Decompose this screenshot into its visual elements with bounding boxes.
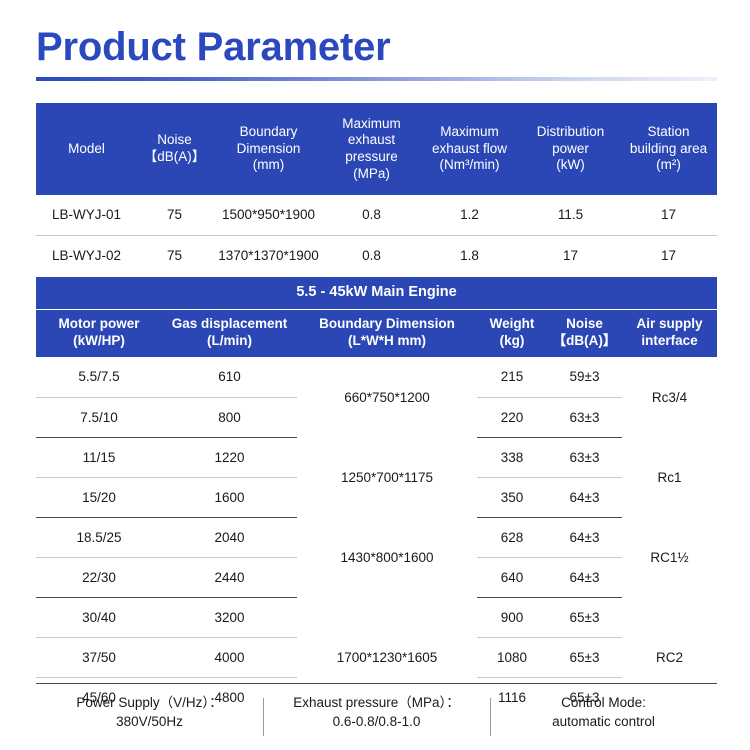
- cell-gas-displacement: 2440: [162, 557, 297, 597]
- cell-noise: 59±3: [547, 357, 622, 397]
- table-row: 18.5/25 2040 1430*800*1600 628 64±3 RC1½: [36, 517, 717, 557]
- cell-noise: 65±3: [547, 597, 622, 637]
- th-area-l3: (m²): [656, 157, 681, 172]
- cell-noise: 63±3: [547, 397, 622, 437]
- cell-area: 17: [620, 195, 717, 235]
- th-pressure-l1: Maximum: [342, 116, 401, 131]
- cell-flow: 1.8: [418, 235, 521, 275]
- cell-pressure: 0.8: [325, 195, 418, 235]
- table-row: 11/15 1220 1250*700*1175 338 63±3 Rc1: [36, 437, 717, 477]
- th-weight-l1: Weight: [490, 316, 535, 331]
- th-airsupply-l1: Air supply: [637, 316, 703, 331]
- cell-boundary-dimension: 1250*700*1175: [297, 437, 477, 517]
- th-dpower-l1: Distribution: [537, 124, 605, 139]
- th-noise2-l1: Noise: [566, 316, 603, 331]
- cell-model: LB-WYJ-01: [36, 195, 137, 235]
- cell-air-supply-interface: Rc1: [622, 437, 717, 517]
- th-boundary-l2: Dimension: [237, 141, 301, 156]
- th-area-l2: building area: [630, 141, 707, 156]
- table-row: LB-WYJ-01 75 1500*950*1900 0.8 1.2 11.5 …: [36, 195, 717, 235]
- th-gasdisp-l1: Gas displacement: [172, 316, 288, 331]
- cell-pressure: 0.8: [325, 235, 418, 275]
- th-boundary-dimension-2: Boundary Dimension (L*W*H mm): [297, 309, 477, 357]
- table1-header-row: Model Noise 【dB(A)】 Boundary Dimension (…: [36, 103, 717, 195]
- cell-motor-power: 30/40: [36, 597, 162, 637]
- cell-boundary-dimension: 660*750*1200: [297, 357, 477, 437]
- th-model: Model: [36, 103, 137, 195]
- cell-noise: 63±3: [547, 437, 622, 477]
- th-air-supply-interface: Air supply interface: [622, 309, 717, 357]
- th-bound2-l2: (L*W*H mm): [348, 333, 426, 348]
- th-airsupply-l2: interface: [641, 333, 697, 348]
- th-weight-l2: (kg): [500, 333, 525, 348]
- cell-power: 11.5: [521, 195, 620, 235]
- cell-noise: 64±3: [547, 517, 622, 557]
- th-distribution-power: Distribution power (kW): [521, 103, 620, 195]
- th-flow-l1: Maximum: [440, 124, 499, 139]
- th-motor-power: Motor power (kW/HP): [36, 309, 162, 357]
- parameter-tables: Model Noise 【dB(A)】 Boundary Dimension (…: [36, 103, 717, 717]
- footer-control-mode: Control Mode: automatic control: [490, 694, 717, 731]
- cell-weight: 220: [477, 397, 547, 437]
- cell-motor-power: 5.5/7.5: [36, 357, 162, 397]
- cell-gas-displacement: 610: [162, 357, 297, 397]
- th-motorpower-l2: (kW/HP): [73, 333, 125, 348]
- cell-motor-power: 7.5/10: [36, 397, 162, 437]
- th-boundary-dimension: Boundary Dimension (mm): [212, 103, 325, 195]
- cell-noise: 64±3: [547, 557, 622, 597]
- th-pressure-l3: pressure: [345, 149, 398, 164]
- cell-power: 17: [521, 235, 620, 275]
- th-motorpower-l1: Motor power: [59, 316, 140, 331]
- cell-motor-power: 18.5/25: [36, 517, 162, 557]
- th-boundary-l1: Boundary: [240, 124, 298, 139]
- th-noise-l2: 【dB(A)】: [144, 149, 206, 164]
- footer-exhaust-pressure-label: Exhaust pressure（MPa）：: [267, 694, 486, 713]
- cell-flow: 1.2: [418, 195, 521, 235]
- th-pressure-l2: exhaust: [348, 132, 395, 147]
- cell-gas-displacement: 2040: [162, 517, 297, 557]
- cell-weight: 1080: [477, 637, 547, 677]
- th-dpower-l2: power: [552, 141, 589, 156]
- cell-gas-displacement: 4000: [162, 637, 297, 677]
- cell-weight: 640: [477, 557, 547, 597]
- cell-dimension: 1500*950*1900: [212, 195, 325, 235]
- cell-motor-power: 37/50: [36, 637, 162, 677]
- th-pressure-l4: (MPa): [353, 166, 390, 181]
- page-title: Product Parameter: [36, 26, 717, 68]
- table2-header-row: Motor power (kW/HP) Gas displacement (L/…: [36, 309, 717, 357]
- th-noise-2: Noise 【dB(A)】: [547, 309, 622, 357]
- cell-motor-power: 11/15: [36, 437, 162, 477]
- cell-air-supply-interface: Rc3/4: [622, 357, 717, 437]
- th-weight: Weight (kg): [477, 309, 547, 357]
- title-underline-rule: [36, 77, 717, 81]
- cell-boundary-dimension: 1430*800*1600: [297, 517, 477, 597]
- th-flow-l2: exhaust flow: [432, 141, 507, 156]
- cell-weight: 338: [477, 437, 547, 477]
- th-station-building-area: Station building area (m²): [620, 103, 717, 195]
- th-noise-l1: Noise: [157, 132, 192, 147]
- th-bound2-l1: Boundary Dimension: [319, 316, 455, 331]
- footer-exhaust-pressure-value: 0.6-0.8/0.8-1.0: [267, 713, 486, 732]
- section-title-main-engine: 5.5 - 45kW Main Engine: [36, 276, 717, 309]
- main-engine-table: 5.5 - 45kW Main Engine Motor power (kW/H…: [36, 275, 717, 717]
- footer-power-supply-value: 380V/50Hz: [40, 713, 259, 732]
- cell-noise: 65±3: [547, 637, 622, 677]
- cell-dimension: 1370*1370*1900: [212, 235, 325, 275]
- th-gasdisp-l2: (L/min): [207, 333, 252, 348]
- cell-area: 17: [620, 235, 717, 275]
- title-block: Product Parameter: [36, 26, 717, 81]
- footer-exhaust-pressure: Exhaust pressure（MPa）： 0.6-0.8/0.8-1.0: [263, 694, 490, 731]
- footer-specs: Power Supply（V/Hz）： 380V/50Hz Exhaust pr…: [36, 683, 717, 741]
- cell-noise: 75: [137, 195, 212, 235]
- footer-control-mode-label: Control Mode:: [494, 694, 713, 713]
- th-max-exhaust-flow: Maximum exhaust flow (Nm³/min): [418, 103, 521, 195]
- cell-noise: 64±3: [547, 477, 622, 517]
- cell-gas-displacement: 1220: [162, 437, 297, 477]
- table-row: 5.5/7.5 610 660*750*1200 215 59±3 Rc3/4: [36, 357, 717, 397]
- th-dpower-l3: (kW): [556, 157, 584, 172]
- th-model-l1: Model: [68, 141, 105, 156]
- cell-noise: 75: [137, 235, 212, 275]
- footer-control-mode-value: automatic control: [494, 713, 713, 732]
- table-row: 30/40 3200 1700*1230*1605 900 65±3 RC2: [36, 597, 717, 637]
- cell-weight: 900: [477, 597, 547, 637]
- th-area-l1: Station: [647, 124, 689, 139]
- th-noise: Noise 【dB(A)】: [137, 103, 212, 195]
- cell-gas-displacement: 1600: [162, 477, 297, 517]
- th-boundary-l3: (mm): [253, 157, 284, 172]
- cell-weight: 215: [477, 357, 547, 397]
- th-noise2-l2: 【dB(A)】: [553, 333, 617, 348]
- product-parameter-page: Product Parameter Model Noise 【dB(A)】: [0, 0, 750, 750]
- cell-weight: 350: [477, 477, 547, 517]
- footer-power-supply-label: Power Supply（V/Hz）：: [40, 694, 259, 713]
- model-parameter-table: Model Noise 【dB(A)】 Boundary Dimension (…: [36, 103, 717, 275]
- cell-air-supply-interface: RC1½: [622, 517, 717, 597]
- cell-model: LB-WYJ-02: [36, 235, 137, 275]
- cell-weight: 628: [477, 517, 547, 557]
- cell-gas-displacement: 800: [162, 397, 297, 437]
- th-gas-displacement: Gas displacement (L/min): [162, 309, 297, 357]
- th-flow-l3: (Nm³/min): [440, 157, 500, 172]
- footer-power-supply: Power Supply（V/Hz）： 380V/50Hz: [36, 694, 263, 731]
- th-max-exhaust-pressure: Maximum exhaust pressure (MPa): [325, 103, 418, 195]
- table-row: LB-WYJ-02 75 1370*1370*1900 0.8 1.8 17 1…: [36, 235, 717, 275]
- cell-motor-power: 22/30: [36, 557, 162, 597]
- cell-gas-displacement: 3200: [162, 597, 297, 637]
- cell-motor-power: 15/20: [36, 477, 162, 517]
